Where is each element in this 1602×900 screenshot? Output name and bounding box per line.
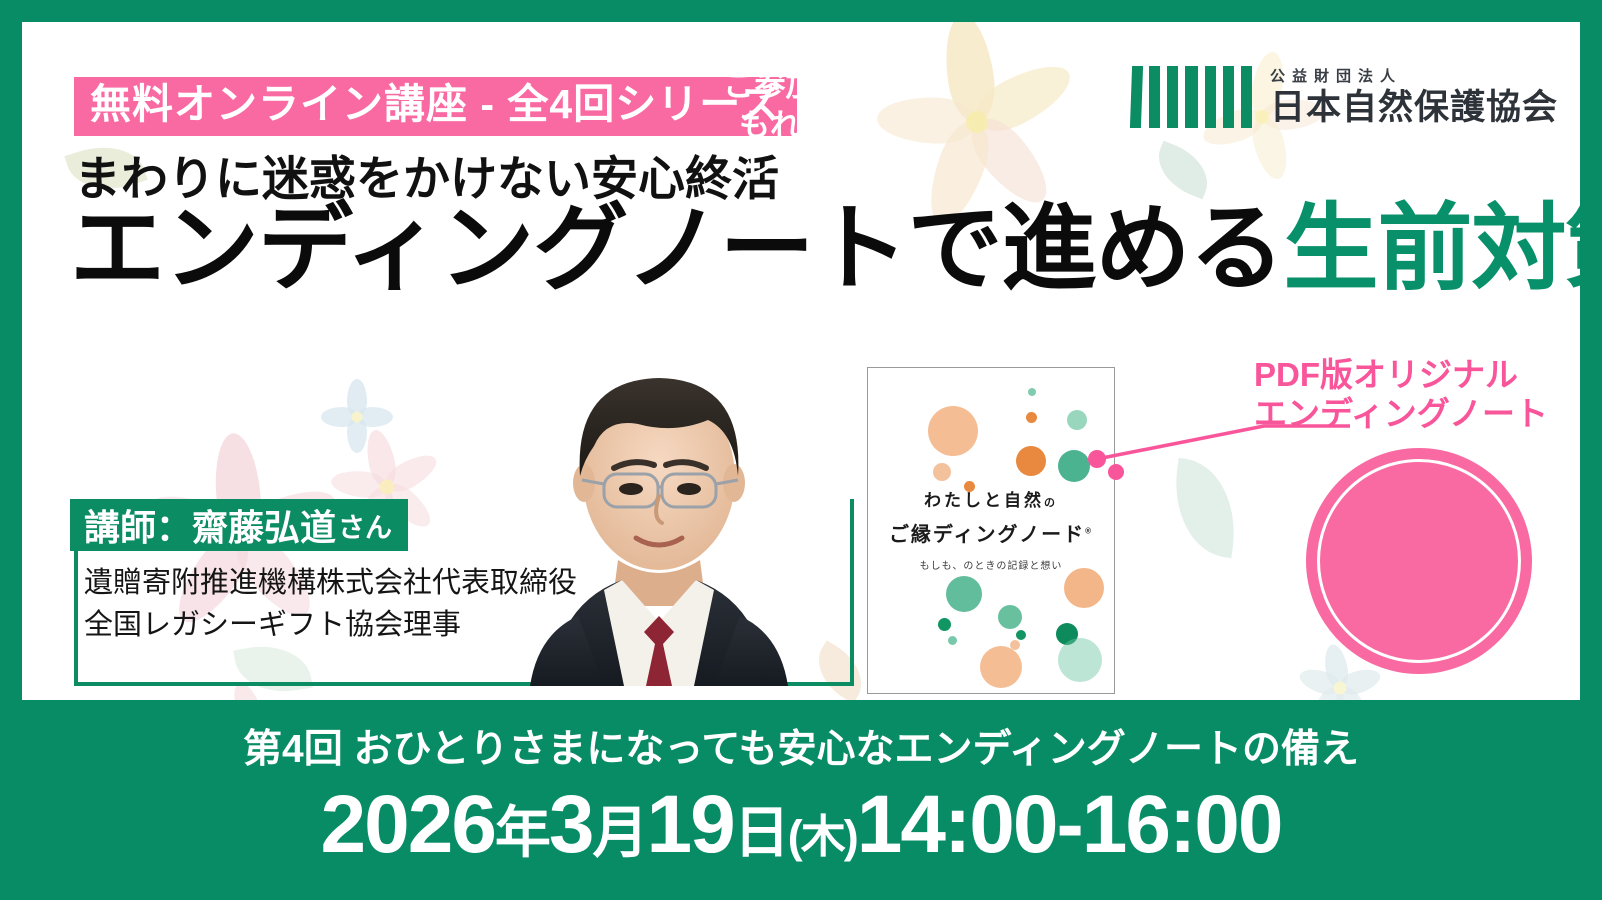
pdf-gift-callout: PDF版オリジナル エンディングノート — [1254, 356, 1548, 434]
notebook-line1-main: わたしと自然 — [924, 491, 1044, 510]
petal — [330, 468, 388, 500]
pattern-dot — [928, 406, 978, 456]
event-datetime: 2026年3月19日(木)14:00-16:00 — [0, 778, 1602, 872]
present-badge — [1306, 448, 1532, 674]
petal — [1322, 642, 1351, 689]
pattern-dot — [1058, 638, 1102, 682]
callout-line2: エンディングノート — [1254, 395, 1548, 434]
event-day-unit: 日 — [734, 801, 788, 864]
session-title: 第4回 おひとりさまになっても安心なエンディングノートの備え — [0, 700, 1602, 774]
instructor-label: 講師：齋藤弘道 — [84, 499, 336, 551]
pattern-dot — [1016, 630, 1026, 640]
notebook-line1: わたしと自然の — [868, 486, 1114, 511]
webinar-banner: 無料オンライン講座 - 全4回シリーズ まわりに迷惑をかけない安心終活 エンディ… — [0, 0, 1602, 900]
ending-note-cover: わたしと自然の ご縁ディングノード® もしも、のときの記録と想い — [867, 367, 1115, 694]
petal — [362, 428, 399, 490]
present-badge-text: ご参加者に もれなく プレゼント!! — [22, 66, 1580, 185]
instructor-title-1: 全国レガシーギフト協会理事 — [84, 604, 577, 646]
notebook-line1-small: の — [1044, 497, 1058, 509]
event-month: 3 — [549, 779, 593, 870]
pattern-dot — [948, 636, 957, 645]
petal — [321, 407, 357, 427]
pattern-dot — [998, 605, 1022, 629]
petal — [381, 448, 442, 499]
petal — [347, 379, 367, 417]
pattern-dot — [980, 646, 1022, 688]
registered-mark: ® — [1085, 526, 1093, 535]
title-green-part: 生前対策 — [1283, 196, 1580, 302]
callout-line1: PDF版オリジナル — [1254, 356, 1548, 395]
pattern-dot — [933, 463, 951, 481]
petal — [1331, 681, 1373, 700]
petal — [347, 417, 367, 453]
event-day: 19 — [647, 779, 734, 870]
pattern-dot — [1016, 446, 1046, 476]
instructor-title-0: 遺贈寄附推進機構株式会社代表取締役 — [84, 562, 577, 604]
pattern-dot — [1064, 568, 1104, 608]
event-year: 2026 — [321, 779, 495, 870]
petal — [1307, 681, 1349, 700]
pattern-dot — [938, 618, 951, 631]
instructor-titles: 遺贈寄附推進機構株式会社代表取締役 全国レガシーギフト協会理事 — [84, 562, 577, 646]
badge-line2: もれなく — [22, 106, 1580, 146]
flower-core — [380, 480, 395, 495]
badge-line3: プレゼント!! — [22, 145, 1580, 185]
notebook-line2-text: ご縁ディングノード — [889, 524, 1085, 546]
title-black-part: エンディングノートで進める — [70, 196, 1283, 302]
event-year-unit: 年 — [495, 801, 549, 864]
page-title: エンディングノートで進める生前対策 — [70, 200, 1580, 300]
pattern-dot — [1026, 412, 1037, 423]
notebook-title: わたしと自然の ご縁ディングノード® もしも、のときの記録と想い — [868, 486, 1114, 572]
footer-band: 第4回 おひとりさまになっても安心なエンディングノートの備え 2026年3月19… — [0, 700, 1602, 900]
petal — [1337, 664, 1384, 698]
notebook-line2: ご縁ディングノード® — [868, 518, 1114, 547]
content-panel: 無料オンライン講座 - 全4回シリーズ まわりに迷惑をかけない安心終活 エンディ… — [22, 22, 1580, 700]
badge-line1: ご参加者に — [22, 66, 1580, 106]
flower-decor-left-small — [312, 372, 402, 462]
petal — [357, 407, 393, 427]
pattern-dot — [1028, 388, 1036, 396]
pattern-dot — [946, 576, 982, 612]
flower-core — [352, 412, 363, 423]
instructor-honorific: さん — [338, 506, 392, 545]
flower-core — [1334, 681, 1347, 694]
event-weekday: (木) — [788, 811, 857, 862]
event-month-unit: 月 — [593, 801, 647, 864]
instructor-name-bar: 講師：齋藤弘道さん — [70, 499, 408, 551]
event-time: 14:00-16:00 — [857, 779, 1282, 870]
petal — [1297, 664, 1344, 698]
